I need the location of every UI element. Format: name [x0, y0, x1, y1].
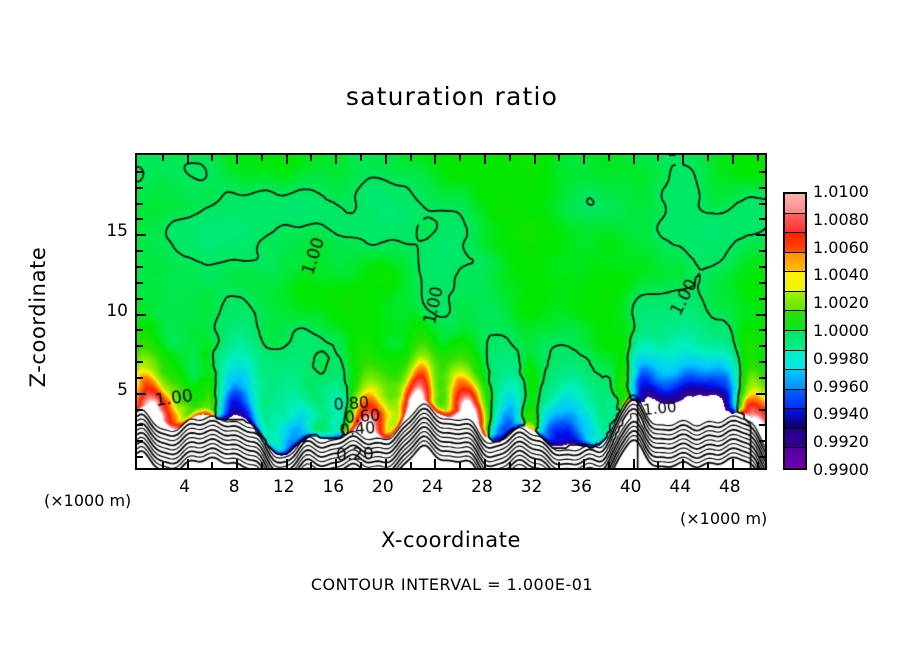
y-tick: [137, 456, 143, 458]
x-tick: [608, 462, 610, 468]
y-tick: [137, 361, 143, 363]
x-tick: [682, 459, 684, 468]
y-tick-label: 15: [92, 221, 128, 241]
colorbar-band: [785, 331, 805, 351]
y-tick-right: [759, 187, 765, 189]
y-tick-right: [759, 329, 765, 331]
x-tick-label: 24: [412, 477, 452, 497]
colorbar-tick-label: 0.9980: [813, 349, 869, 368]
x-tick: [757, 462, 759, 468]
x-tick-label: 28: [462, 477, 502, 497]
x-tick: [732, 459, 734, 468]
colorbar-tick-label: 1.0060: [813, 238, 869, 257]
y-tick-right: [759, 282, 765, 284]
x-tick-top: [385, 155, 387, 164]
x-tick: [162, 462, 164, 468]
x-tick-top: [509, 155, 511, 161]
x-tick: [534, 459, 536, 468]
y-tick-right: [756, 314, 765, 316]
colorbar-band: [785, 253, 805, 273]
x-tick-top: [410, 155, 412, 161]
x-tick: [434, 459, 436, 468]
x-axis-title: X-coordinate: [135, 528, 767, 552]
x-tick-top: [434, 155, 436, 164]
x-tick: [707, 462, 709, 468]
x-tick-top: [187, 155, 189, 164]
x-tick-top: [211, 155, 213, 161]
x-tick-top: [558, 155, 560, 161]
y-tick: [137, 377, 143, 379]
y-tick-right: [756, 393, 765, 395]
x-tick: [657, 462, 659, 468]
colorbar-tick-label: 1.0100: [813, 182, 869, 201]
y-tick: [137, 187, 143, 189]
colorbar-band: [785, 214, 805, 234]
x-tick-top: [335, 155, 337, 164]
y-tick-right: [759, 361, 765, 363]
x-tick-top: [236, 155, 238, 164]
x-tick-top: [757, 155, 759, 161]
x-tick-top: [608, 155, 610, 161]
colorbar-band: [785, 370, 805, 390]
x-tick: [385, 459, 387, 468]
y-tick: [137, 250, 143, 252]
colorbar-tick-label: 1.0080: [813, 210, 869, 229]
colorbar-band: [785, 429, 805, 449]
x-tick: [286, 459, 288, 468]
x-tick-label: 4: [165, 477, 205, 497]
x-tick: [360, 462, 362, 468]
x-tick-top: [162, 155, 164, 161]
x-tick-top: [484, 155, 486, 164]
x-tick-top: [360, 155, 362, 161]
colorbar-band: [785, 194, 805, 214]
x-tick-label: 44: [660, 477, 700, 497]
x-tick: [633, 459, 635, 468]
x-tick-top: [261, 155, 263, 161]
x-tick: [261, 462, 263, 468]
y-tick-right: [759, 171, 765, 173]
contour-lines-overlay: [137, 155, 767, 470]
x-tick-top: [707, 155, 709, 161]
x-tick-top: [286, 155, 288, 164]
y-tick: [137, 329, 143, 331]
y-tick: [137, 282, 143, 284]
colorbar-band: [785, 409, 805, 429]
y-tick-label: 10: [92, 301, 128, 321]
y-tick: [137, 234, 146, 236]
x-tick: [459, 462, 461, 468]
contour-plot-area: [135, 153, 767, 470]
x-tick-label: 36: [561, 477, 601, 497]
colorbar: [783, 192, 807, 470]
y-tick: [137, 298, 143, 300]
y-tick-right: [759, 218, 765, 220]
y-tick: [137, 171, 143, 173]
x-tick-label: 32: [512, 477, 552, 497]
y-tick: [137, 424, 143, 426]
y-tick-right: [759, 250, 765, 252]
x-tick-top: [633, 155, 635, 164]
y-axis-title: Z-coordinate: [26, 217, 50, 417]
x-tick-label: 48: [710, 477, 750, 497]
y-tick-right: [759, 266, 765, 268]
x-tick-label: 16: [313, 477, 353, 497]
y-tick: [137, 203, 143, 205]
x-axis-units: (×1000 m): [680, 509, 767, 528]
x-tick: [236, 459, 238, 468]
y-tick-right: [759, 424, 765, 426]
y-tick-right: [759, 345, 765, 347]
y-tick: [137, 440, 143, 442]
x-tick-top: [657, 155, 659, 161]
colorbar-tick-label: 0.9940: [813, 404, 869, 423]
colorbar-band: [785, 448, 805, 468]
colorbar-band: [785, 351, 805, 371]
z-axis-units: (×1000 m): [44, 491, 131, 510]
y-tick-right: [759, 298, 765, 300]
y-tick: [137, 409, 143, 411]
colorbar-tick-label: 1.0020: [813, 293, 869, 312]
x-tick: [410, 462, 412, 468]
x-tick-label: 40: [611, 477, 651, 497]
x-tick: [509, 462, 511, 468]
x-tick-top: [310, 155, 312, 161]
x-tick-label: 20: [363, 477, 403, 497]
y-tick: [137, 393, 146, 395]
x-tick-top: [682, 155, 684, 164]
y-tick-right: [759, 440, 765, 442]
colorbar-band: [785, 292, 805, 312]
contour-interval-caption: CONTOUR INTERVAL = 1.000E-01: [0, 575, 904, 594]
y-tick-label: 5: [92, 380, 128, 400]
x-tick: [484, 459, 486, 468]
colorbar-tick-label: 1.0000: [813, 321, 869, 340]
y-tick: [137, 218, 143, 220]
y-tick-right: [759, 377, 765, 379]
x-tick-top: [459, 155, 461, 161]
colorbar-tick-label: 1.0040: [813, 265, 869, 284]
y-tick-right: [759, 409, 765, 411]
x-tick-top: [732, 155, 734, 164]
colorbar-tick-label: 0.9900: [813, 460, 869, 479]
x-tick: [211, 462, 213, 468]
colorbar-band: [785, 272, 805, 292]
x-tick-label: 12: [264, 477, 304, 497]
x-tick: [583, 459, 585, 468]
colorbar-band: [785, 390, 805, 410]
x-tick-top: [583, 155, 585, 164]
y-tick-right: [759, 203, 765, 205]
x-tick: [187, 459, 189, 468]
colorbar-tick-label: 0.9920: [813, 432, 869, 451]
y-tick-right: [759, 456, 765, 458]
x-tick: [335, 459, 337, 468]
colorbar-band: [785, 311, 805, 331]
y-tick-right: [756, 234, 765, 236]
colorbar-band: [785, 233, 805, 253]
page-title: saturation ratio: [0, 82, 904, 111]
x-tick-label: 8: [214, 477, 254, 497]
y-tick: [137, 314, 146, 316]
x-tick: [558, 462, 560, 468]
x-tick-top: [534, 155, 536, 164]
y-tick: [137, 345, 143, 347]
colorbar-tick-label: 0.9960: [813, 377, 869, 396]
y-tick: [137, 266, 143, 268]
x-tick: [310, 462, 312, 468]
